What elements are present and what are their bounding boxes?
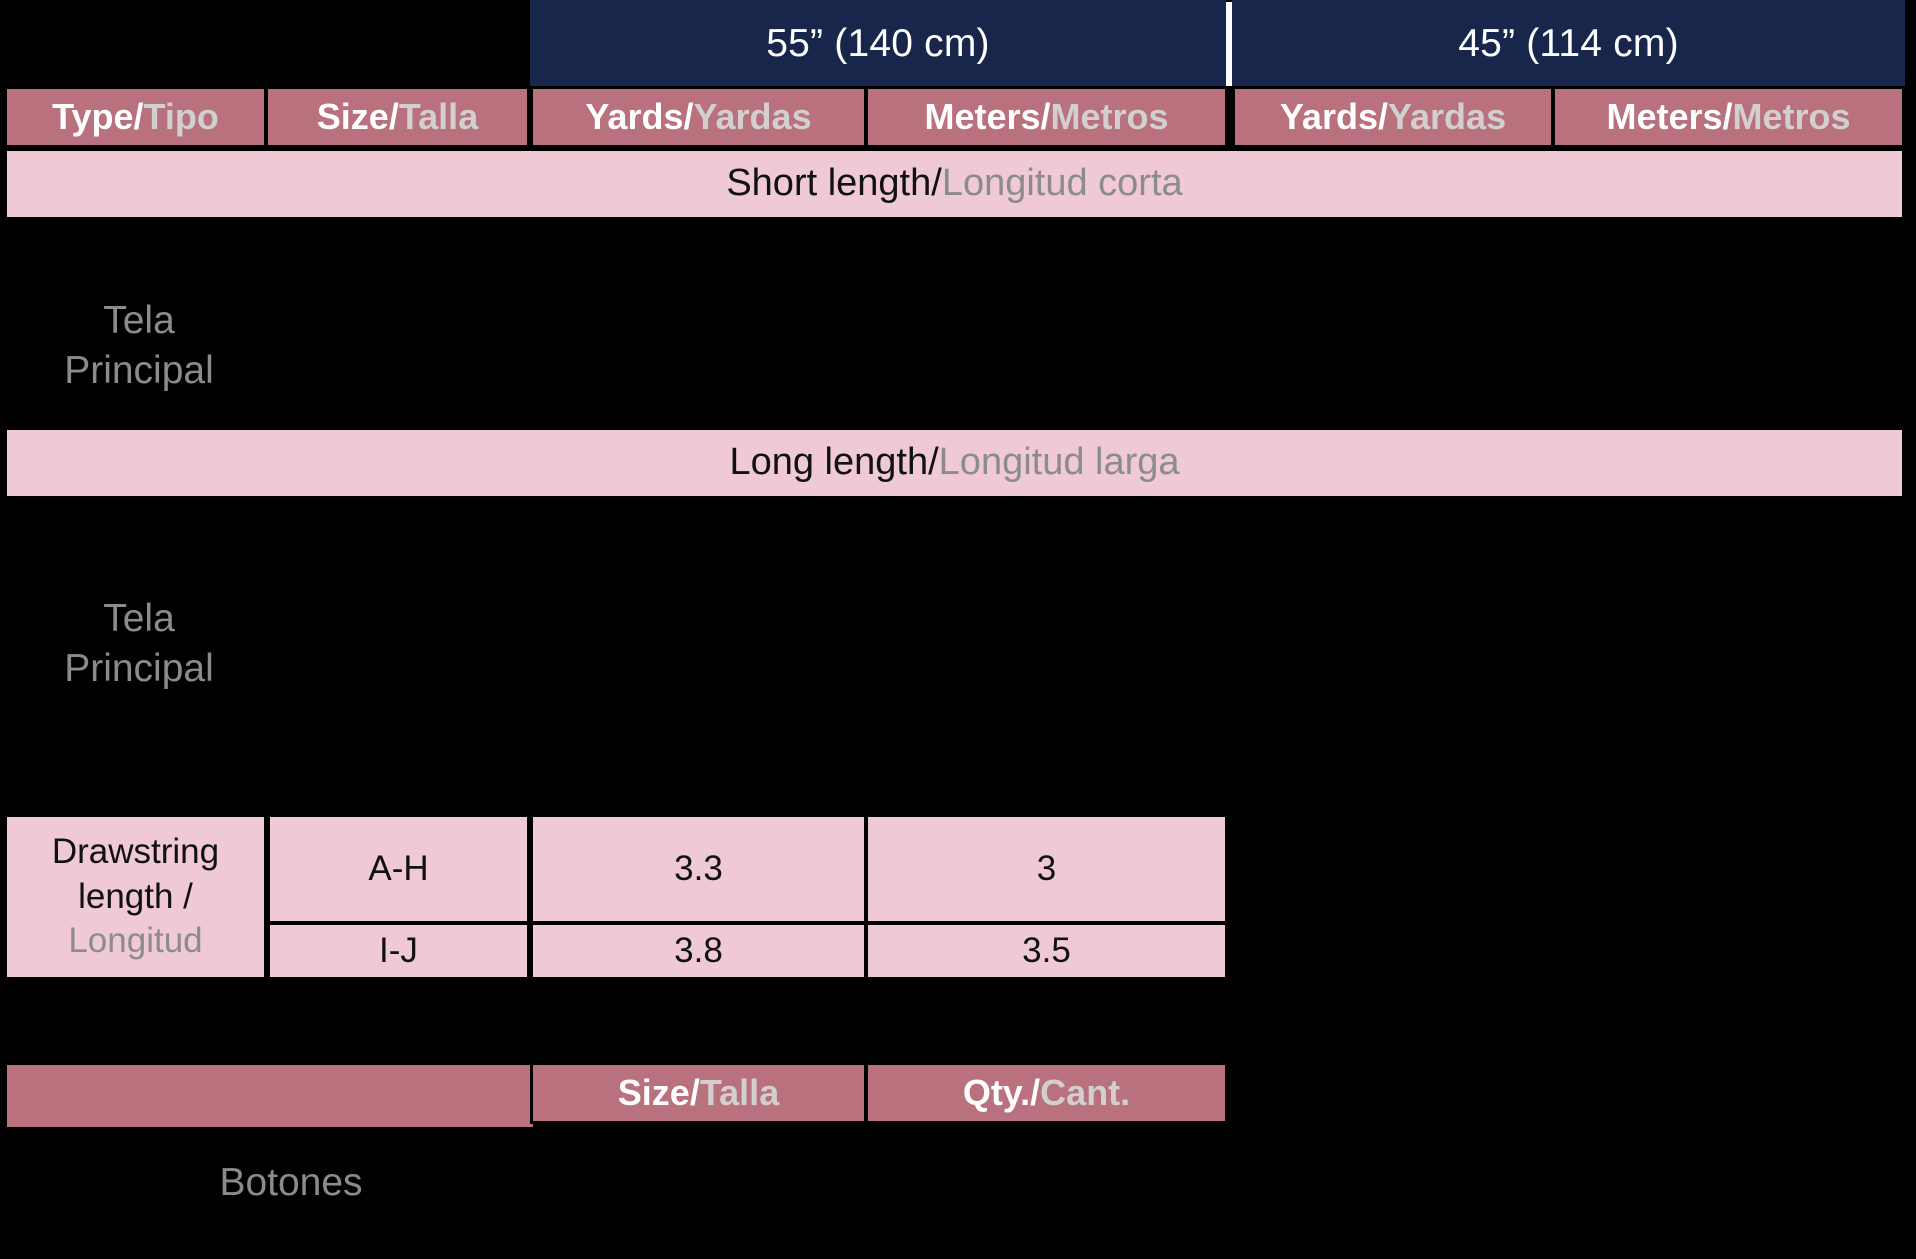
buttons-header-qty-sp: Cant.	[1040, 1072, 1130, 1113]
section-band-short-length: Short length / Longitud corta	[4, 148, 1905, 220]
column-header-meters-45: Meters/ Metros	[1552, 86, 1905, 148]
buttons-header-qty-sep: /	[1030, 1072, 1040, 1113]
column-header-yards-55-en: Yards	[585, 96, 683, 137]
row-label-botones: Botones	[152, 1158, 430, 1208]
width-header-45: 45” (114 cm)	[1232, 0, 1905, 88]
column-header-type: Type/ Tipo	[4, 86, 267, 148]
buttons-header-size-sep: /	[690, 1072, 700, 1113]
width-header-45-label: 45” (114 cm)	[1458, 22, 1679, 67]
drawstring-yards55-a-h-value: 3.3	[674, 849, 723, 889]
column-header-size: Size / Talla	[265, 86, 530, 148]
column-header-yards-45: Yards / Yardas	[1232, 86, 1554, 148]
width-header-55-label: 55” (140 cm)	[766, 22, 989, 67]
column-header-yards-55-sep: /	[683, 96, 693, 137]
section-band-long-length-sep: /	[928, 441, 939, 485]
section-band-long-length: Long length / Longitud larga	[4, 427, 1905, 499]
drawstring-size-i-j-value: I-J	[379, 931, 418, 971]
section-band-short-length-sep: /	[931, 162, 942, 206]
drawstring-size-a-h-value: A-H	[368, 849, 428, 889]
column-header-yards-55-sp: Yardas	[694, 96, 812, 137]
drawstring-meters55-a-h: 3	[865, 814, 1228, 924]
row-label-tela-principal-long: Tela Principal	[0, 594, 278, 693]
fabric-requirements-sheet: 55” (140 cm) 45” (114 cm) Type/ Tipo Siz…	[0, 0, 1916, 1259]
column-header-meters-55: Meters/ Metros	[865, 86, 1228, 148]
section-band-long-length-en: Long length	[729, 441, 928, 485]
drawstring-meters55-i-j-value: 3.5	[1022, 931, 1071, 971]
section-band-short-length-en: Short length	[726, 162, 931, 206]
drawstring-meters55-i-j: 3.5	[865, 922, 1228, 980]
drawstring-yards55-i-j: 3.8	[530, 922, 867, 980]
drawstring-row-label: Drawstring length / Longitud	[4, 814, 267, 980]
buttons-header-size: Size / Talla	[530, 1062, 867, 1124]
column-header-type-sp: Tipo	[144, 96, 219, 137]
column-header-meters-55-sp: Metros	[1051, 96, 1169, 137]
section-band-short-length-sp: Longitud corta	[942, 162, 1183, 206]
section-band-long-length-sp: Longitud larga	[939, 441, 1180, 485]
drawstring-row-label-en: Drawstring length /	[52, 830, 219, 920]
column-header-yards-45-sep: /	[1378, 96, 1388, 137]
column-header-yards-45-en: Yards	[1280, 96, 1378, 137]
column-header-meters-45-sp: Metros	[1733, 96, 1851, 137]
column-header-meters-55-en: Meters/	[924, 96, 1050, 137]
buttons-header-size-sp: Talla	[700, 1072, 779, 1113]
column-header-yards-55: Yards / Yardas	[530, 86, 867, 148]
drawstring-size-i-j: I-J	[267, 922, 530, 980]
buttons-header-blank	[4, 1062, 536, 1130]
column-header-size-sep: /	[389, 96, 399, 137]
drawstring-size-a-h: A-H	[267, 814, 530, 924]
drawstring-yards55-a-h: 3.3	[530, 814, 867, 924]
column-header-meters-45-en: Meters/	[1606, 96, 1732, 137]
buttons-header-qty: Qty. / Cant.	[865, 1062, 1228, 1124]
drawstring-row-label-sp: Longitud	[68, 919, 202, 964]
drawstring-yards55-i-j-value: 3.8	[674, 931, 723, 971]
column-header-size-sp: Talla	[399, 96, 478, 137]
drawstring-meters55-a-h-value: 3	[1037, 849, 1056, 889]
column-header-yards-45-sp: Yardas	[1388, 96, 1506, 137]
buttons-header-qty-en: Qty.	[963, 1072, 1030, 1113]
column-header-type-en: Type/	[52, 96, 143, 137]
row-label-tela-principal-short: Tela Principal	[0, 296, 278, 395]
buttons-header-size-en: Size	[618, 1072, 690, 1113]
width-header-55: 55” (140 cm)	[530, 0, 1226, 88]
column-header-size-en: Size	[317, 96, 389, 137]
